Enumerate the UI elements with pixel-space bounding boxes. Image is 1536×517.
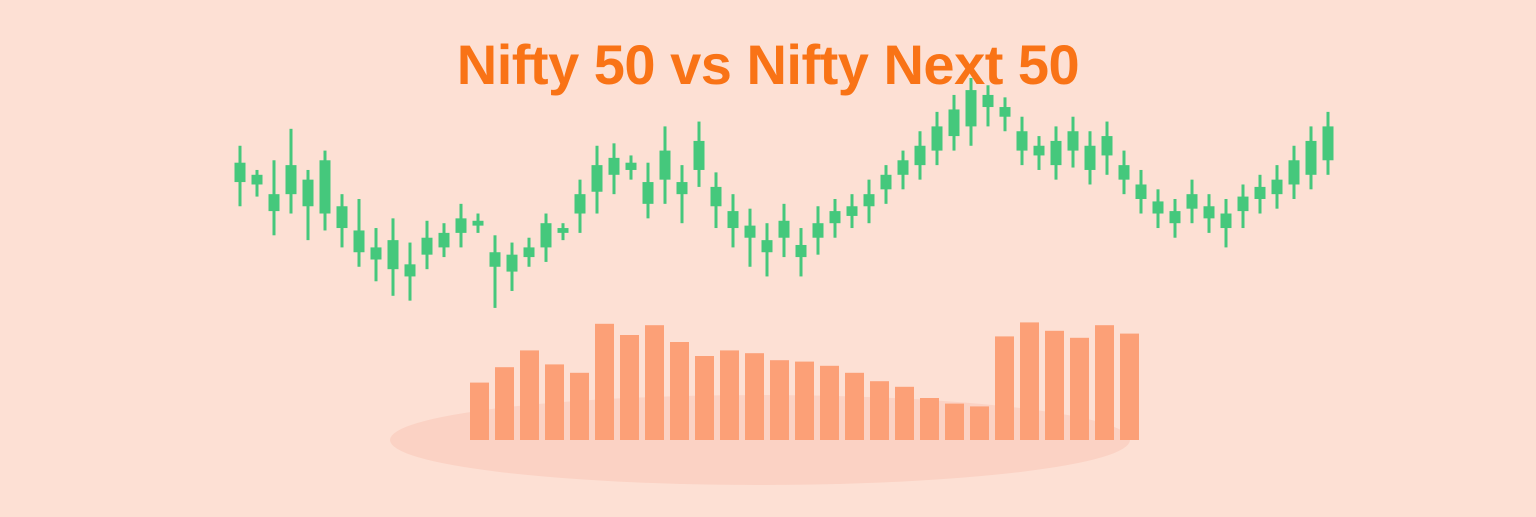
volume-bar: [970, 406, 989, 440]
volume-bar: [495, 367, 514, 440]
candle-body: [1153, 201, 1164, 213]
candle-body: [847, 206, 858, 216]
candlestick: [575, 180, 586, 233]
candlestick: [252, 170, 263, 197]
candle-body: [422, 238, 433, 255]
candle-body: [626, 163, 637, 170]
candle-body: [1272, 180, 1283, 195]
volume-bar: [695, 356, 714, 440]
candle-body: [1204, 206, 1215, 218]
candlestick: [881, 165, 892, 204]
candlestick: [269, 160, 280, 235]
volume-bar: [1070, 338, 1089, 440]
candlestick: [320, 151, 331, 231]
candlestick: [779, 204, 790, 257]
candlestick: [1221, 199, 1232, 247]
candlestick: [1272, 165, 1283, 209]
candle-body: [1323, 126, 1334, 160]
candle-body: [252, 175, 263, 185]
candle-body: [269, 194, 280, 211]
candlestick: [473, 214, 484, 233]
candle-body: [1068, 131, 1079, 150]
candlestick: [371, 228, 382, 281]
volume-bar: [745, 353, 764, 440]
candle-body: [762, 240, 773, 252]
candlestick: [1255, 175, 1266, 214]
candlestick: [728, 194, 739, 247]
candle-body: [932, 126, 943, 150]
volume-bar: [920, 398, 939, 440]
volume-bar: [870, 381, 889, 440]
candle-body: [490, 252, 501, 267]
candle-body: [745, 226, 756, 238]
candle-body: [541, 223, 552, 247]
volume-bar: [795, 362, 814, 440]
candlestick: [558, 223, 569, 240]
candlestick: [643, 163, 654, 219]
candlestick: [524, 238, 535, 267]
candlestick: [1153, 189, 1164, 228]
candle-body: [456, 218, 467, 233]
candle-body: [235, 163, 246, 182]
candlestick: [235, 146, 246, 207]
candle-body: [711, 187, 722, 206]
candle-body: [1017, 131, 1028, 150]
candle-body: [1221, 214, 1232, 229]
candlestick: [1323, 112, 1334, 175]
volume-bar: [945, 404, 964, 440]
candle-body: [694, 141, 705, 170]
candlestick: [1068, 117, 1079, 168]
candle-body: [524, 247, 535, 257]
candlestick: [915, 131, 926, 179]
volume-bar: [545, 364, 564, 440]
candle-body: [354, 230, 365, 252]
candlestick: [1204, 194, 1215, 233]
candle-body: [439, 233, 450, 248]
candle-body: [1187, 194, 1198, 209]
candlestick: [796, 228, 807, 276]
candle-body: [881, 175, 892, 190]
candlestick: [762, 223, 773, 276]
volume-bar: [470, 383, 489, 440]
volume-bar: [520, 350, 539, 440]
candle-body: [1119, 165, 1130, 180]
volume-bar: [670, 342, 689, 440]
candle-body: [286, 165, 297, 194]
candle-body: [592, 165, 603, 192]
candlestick: [303, 170, 314, 240]
candle-body: [1102, 136, 1113, 155]
candle-body: [677, 182, 688, 194]
candlestick: [813, 206, 824, 254]
candle-body: [779, 221, 790, 238]
volume-bar: [995, 336, 1014, 440]
candle-body: [1136, 184, 1147, 199]
candle-body: [1289, 160, 1300, 184]
candle-body: [558, 228, 569, 233]
candle-body: [1306, 141, 1317, 175]
candle-body: [830, 211, 841, 223]
volume-bar: [770, 360, 789, 440]
candlestick: [609, 143, 620, 194]
candlestick-series: [235, 78, 1334, 308]
candlestick: [388, 218, 399, 295]
volume-bar: [1120, 334, 1139, 440]
candle-body: [949, 109, 960, 136]
volume-bar: [620, 335, 639, 440]
candle-body: [1051, 141, 1062, 165]
candlestick: [898, 151, 909, 190]
candlestick: [1238, 184, 1249, 228]
candle-body: [983, 95, 994, 107]
candlestick: [507, 243, 518, 291]
candlestick: [1017, 117, 1028, 165]
hero-banner: Nifty 50 vs Nifty Next 50: [0, 0, 1536, 517]
candle-body: [1170, 211, 1181, 223]
candle-body: [473, 221, 484, 226]
volume-bar: [720, 350, 739, 440]
candlestick: [422, 221, 433, 269]
volume-bar: [895, 387, 914, 440]
volume-bar: [645, 325, 664, 440]
candle-body: [575, 194, 586, 213]
candle-body: [1255, 187, 1266, 199]
candlestick: [626, 155, 637, 179]
candlestick: [864, 180, 875, 224]
candle-body: [1034, 146, 1045, 156]
candlestick: [1051, 126, 1062, 179]
candle-body: [915, 146, 926, 165]
candlestick: [541, 214, 552, 262]
volume-bar: [1020, 322, 1039, 440]
page-title: Nifty 50 vs Nifty Next 50: [0, 34, 1536, 96]
volume-bar: [820, 366, 839, 440]
candlestick: [677, 165, 688, 223]
candlestick: [439, 223, 450, 257]
candlestick: [1102, 122, 1113, 175]
candle-body: [643, 182, 654, 204]
candlestick: [660, 126, 671, 203]
volume-bar: [570, 373, 589, 440]
candlestick: [745, 209, 756, 267]
candle-body: [609, 158, 620, 175]
volume-bar-series: [470, 322, 1139, 440]
candle-body: [337, 206, 348, 228]
candlestick: [1034, 136, 1045, 170]
candlestick: [354, 199, 365, 267]
candlestick: [830, 199, 841, 238]
candlestick: [1289, 146, 1300, 199]
candlestick: [1306, 126, 1317, 189]
candle-body: [1238, 197, 1249, 212]
candle-body: [1000, 107, 1011, 117]
candle-body: [371, 247, 382, 259]
candlestick: [949, 95, 960, 151]
candlestick: [1170, 199, 1181, 238]
candle-body: [320, 160, 331, 213]
candlestick: [1085, 131, 1096, 184]
candlestick: [694, 122, 705, 187]
candlestick: [490, 235, 501, 308]
candlestick: [1187, 180, 1198, 224]
candle-body: [813, 223, 824, 238]
candlestick: [592, 146, 603, 214]
volume-bar: [845, 373, 864, 440]
candle-body: [728, 211, 739, 228]
candle-body: [1085, 146, 1096, 170]
candlestick: [1000, 97, 1011, 131]
volume-bar: [1095, 325, 1114, 440]
candle-body: [796, 245, 807, 257]
volume-bar: [595, 324, 614, 440]
candle-body: [864, 194, 875, 206]
candle-body: [507, 255, 518, 272]
candlestick: [286, 129, 297, 214]
candlestick: [337, 194, 348, 247]
candlestick: [932, 112, 943, 165]
candlestick: [847, 194, 858, 228]
volume-bar: [1045, 331, 1064, 440]
candle-body: [898, 160, 909, 175]
candle-body: [660, 151, 671, 180]
candlestick: [711, 172, 722, 228]
candlestick: [405, 243, 416, 301]
candle-body: [303, 180, 314, 207]
candlestick: [456, 204, 467, 248]
candle-body: [405, 264, 416, 276]
candle-body: [388, 240, 399, 269]
candle-wick: [494, 235, 497, 308]
candlestick: [1136, 170, 1147, 214]
candlestick: [1119, 151, 1130, 195]
